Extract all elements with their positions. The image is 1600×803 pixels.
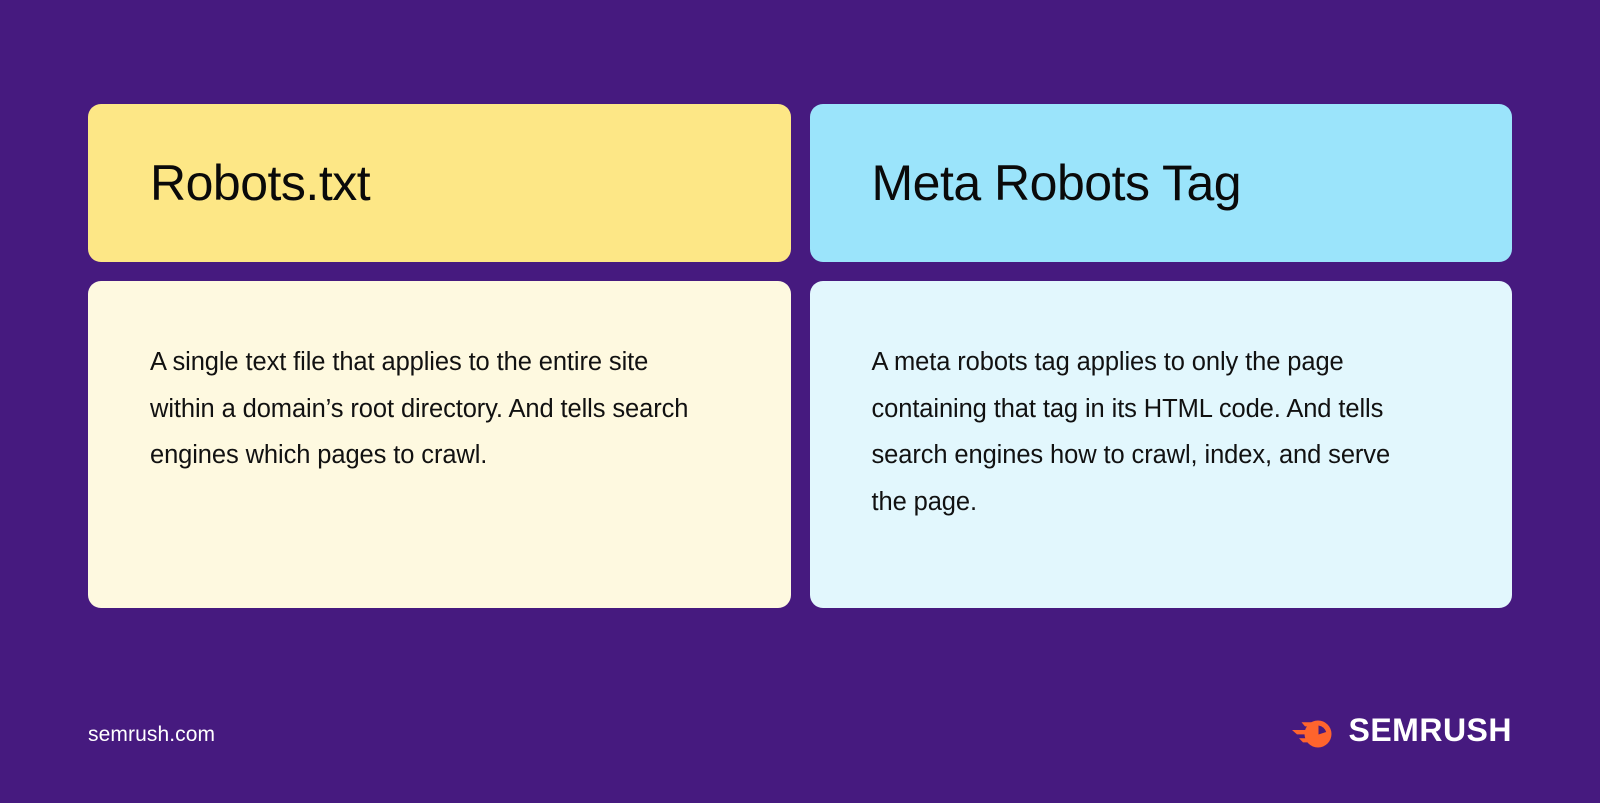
column-robots-txt: Robots.txt A single text file that appli… [88,104,791,608]
comparison-columns: Robots.txt A single text file that appli… [88,104,1512,608]
semrush-comet-icon [1284,709,1334,751]
card-header-robots-txt: Robots.txt [88,104,791,262]
card-title-robots-txt: Robots.txt [150,156,370,211]
semrush-wordmark: SEMRUSH [1348,714,1512,746]
footer-domain-label: semrush.com [88,723,215,747]
card-body-meta-robots-tag: A meta robots tag applies to only the pa… [810,281,1513,608]
infographic-canvas: Robots.txt A single text file that appli… [0,0,1600,803]
card-header-meta-robots-tag: Meta Robots Tag [810,104,1513,262]
card-body-robots-txt: A single text file that applies to the e… [88,281,791,608]
card-description-meta-robots-tag: A meta robots tag applies to only the pa… [872,339,1432,525]
card-title-meta-robots-tag: Meta Robots Tag [872,156,1242,211]
column-meta-robots-tag: Meta Robots Tag A meta robots tag applie… [810,104,1513,608]
card-description-robots-txt: A single text file that applies to the e… [150,339,710,479]
semrush-logo: SEMRUSH [1284,709,1512,751]
footer: semrush.com SEMRUSH [0,693,1600,803]
